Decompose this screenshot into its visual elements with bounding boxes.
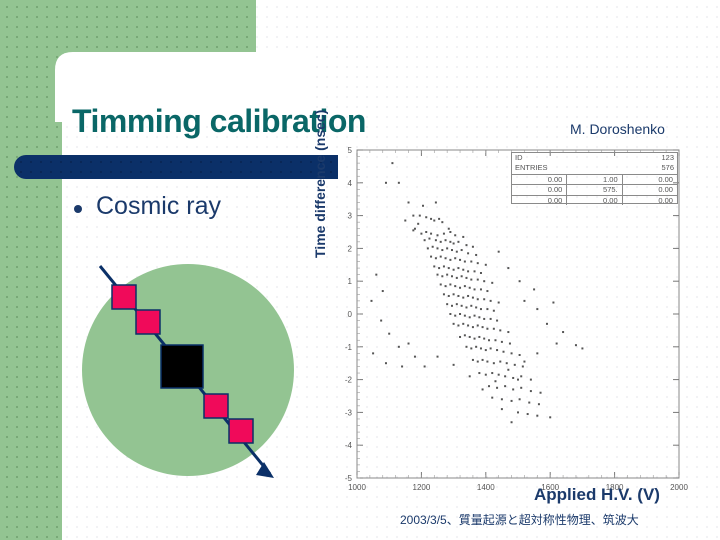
detector-plane-3: [204, 394, 228, 418]
svg-text:-2: -2: [345, 376, 353, 385]
left-green-band: [0, 0, 62, 540]
svg-text:-1: -1: [345, 343, 353, 352]
stats-cell-0-1: 1.00: [566, 175, 621, 184]
svg-text:4: 4: [348, 179, 353, 188]
stats-grid-row-1: 0.00 575. 0.00: [512, 184, 677, 194]
svg-text:1: 1: [348, 277, 353, 286]
svg-text:-3: -3: [345, 408, 353, 417]
svg-text:5: 5: [348, 146, 353, 155]
stats-cell-2-0: 0.00: [512, 196, 566, 205]
svg-text:1000: 1000: [348, 483, 366, 492]
stats-cell-1-2: 0.00: [622, 185, 677, 194]
disc-bullet-icon: [74, 205, 82, 213]
stats-cell-1-1: 575.: [566, 185, 621, 194]
footer-text: 2003/3/5、質量起源と超対称性物理、筑波大: [400, 511, 639, 528]
stats-cell-1-0: 0.00: [512, 185, 566, 194]
stats-value-id: 123: [661, 153, 674, 163]
stats-cell-2-2: 0.00: [622, 196, 677, 205]
stats-box: ID 123 ENTRIES 576 0.00 1.00 0.00 0.00 5…: [511, 152, 678, 204]
stats-row-entries: ENTRIES 576: [512, 163, 677, 173]
svg-text:1400: 1400: [477, 483, 495, 492]
slide-root: Timming calibration M. Doroshenko Cosmic…: [0, 0, 720, 540]
y-axis-label: Time difference (nsec): [312, 110, 328, 258]
svg-text:3: 3: [348, 212, 353, 221]
detector-plane-1: [112, 285, 136, 309]
detector-plane-2: [136, 310, 160, 334]
stats-cell-0-0: 0.00: [512, 175, 566, 184]
svg-text:-4: -4: [345, 441, 353, 450]
target-block: [161, 345, 203, 388]
navy-accent-bar: [14, 155, 338, 179]
cosmic-ray-shower-diagram: [78, 248, 310, 488]
svg-text:1200: 1200: [413, 483, 431, 492]
bullet-item-cosmic-ray: Cosmic ray: [74, 192, 221, 221]
stats-cell-0-2: 0.00: [622, 175, 677, 184]
stats-cell-2-1: 0.00: [566, 196, 621, 205]
stats-label-id: ID: [515, 153, 523, 163]
bullet-label: Cosmic ray: [96, 192, 221, 221]
svg-text:2000: 2000: [670, 483, 688, 492]
svg-text:2: 2: [348, 244, 353, 253]
stats-value-entries: 576: [661, 163, 674, 173]
stats-grid-row-2: 0.00 0.00 0.00: [512, 195, 677, 205]
stats-row-id: ID 123: [512, 153, 677, 163]
x-axis-label: Applied H.V. (V): [534, 485, 660, 505]
detector-plane-4: [229, 419, 253, 443]
top-green-band: [0, 0, 256, 58]
author-name: M. Doroshenko: [570, 121, 665, 137]
svg-text:-5: -5: [345, 474, 353, 483]
arrow-head-icon: [256, 462, 274, 478]
stats-grid-row-0: 0.00 1.00 0.00: [512, 174, 677, 184]
stats-label-entries: ENTRIES: [515, 163, 548, 173]
svg-text:0: 0: [348, 310, 353, 319]
